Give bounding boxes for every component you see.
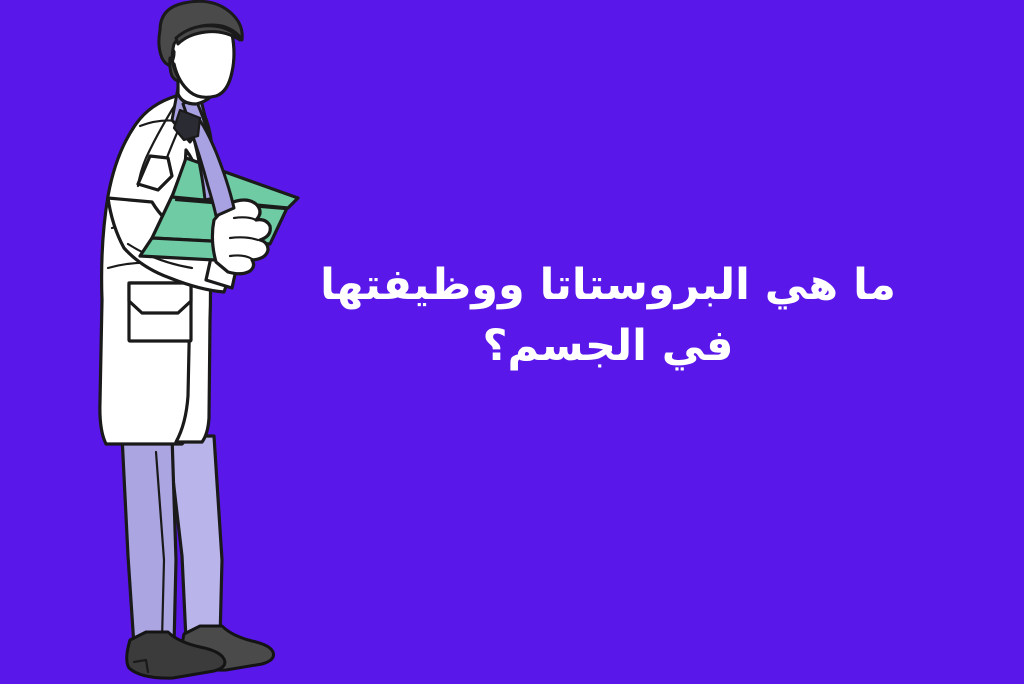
lab-coat bbox=[100, 96, 212, 444]
head bbox=[160, 8, 234, 98]
question-card: .ln { fill:none; stroke:#1a1a1a; stroke-… bbox=[0, 0, 1024, 684]
clipboard-folder bbox=[140, 158, 298, 262]
far-leg bbox=[168, 436, 222, 640]
near-leg bbox=[122, 436, 176, 646]
hand bbox=[212, 200, 270, 274]
hair bbox=[159, 1, 242, 80]
headline-text: ما هي البروستاتا ووظيفتها في الجسم؟ bbox=[288, 255, 928, 377]
far-shoe bbox=[182, 626, 274, 670]
neck bbox=[178, 44, 218, 104]
shirt-and-tie bbox=[172, 88, 234, 216]
near-shoe bbox=[127, 632, 225, 678]
coat-pocket bbox=[129, 283, 191, 341]
forearm-sleeve bbox=[108, 198, 240, 292]
